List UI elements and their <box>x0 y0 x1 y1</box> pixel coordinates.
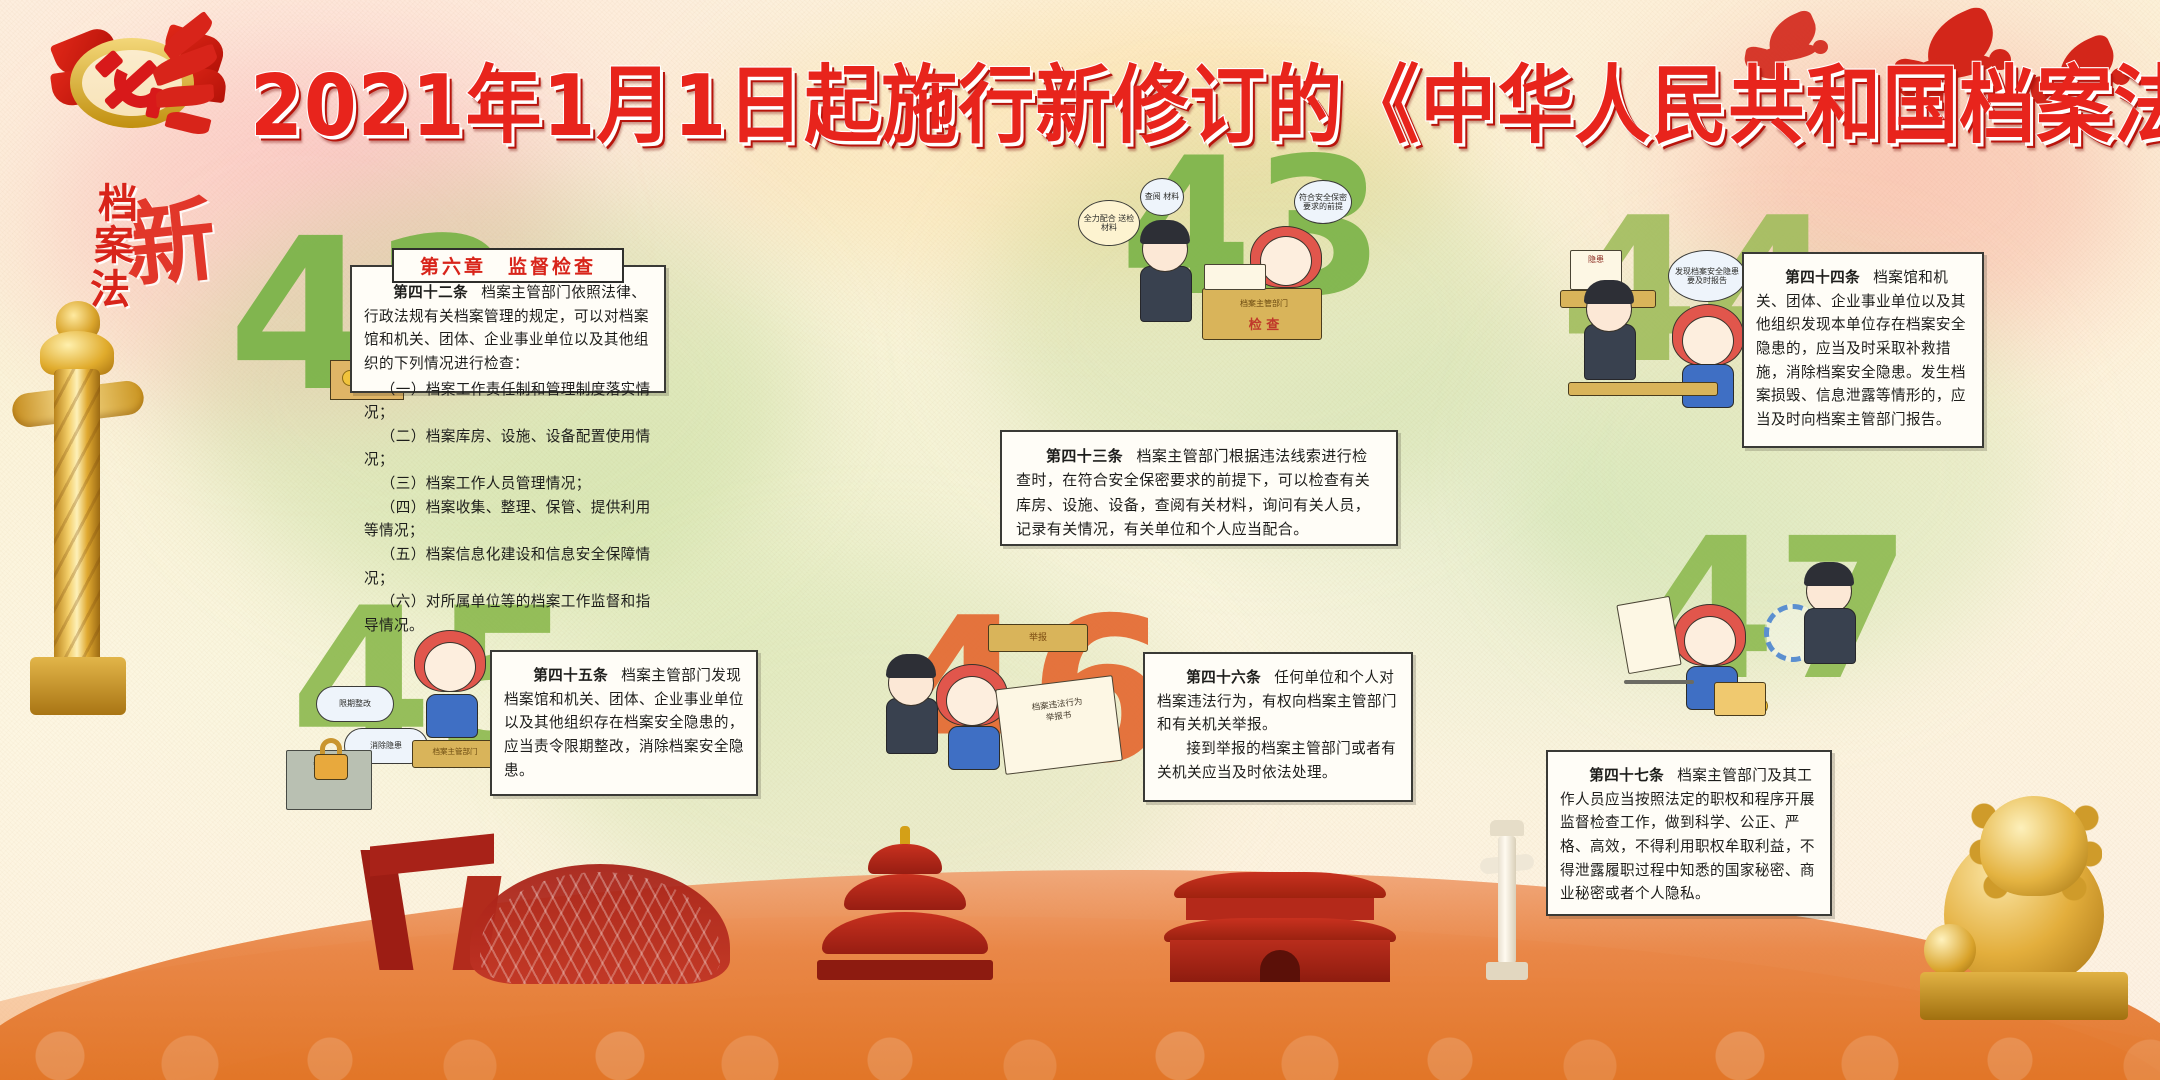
speech-bubble-rectify-deadline: 限期整改 <box>316 686 394 722</box>
illustration-whistleblower: 举报 档案违法行为 举报书 <box>880 620 1140 810</box>
archives-new-law-seal: 新 档 案 法 <box>68 182 188 322</box>
article-46-panel: 第四十六条任何单位和个人对档案违法行为，有权向档案主管部门和有关机关举报。 接到… <box>1143 652 1413 802</box>
poster-canvas: 42 43 44 45 46 47 <box>0 0 2160 1080</box>
article-42-body: 第四十二条档案主管部门依照法律、行政法规有关档案管理的规定，可以对档案馆和机关、… <box>364 281 652 638</box>
report-office-sign <box>988 624 1088 652</box>
article-42-item-3: （三）档案工作人员管理情况； <box>364 472 652 496</box>
seal-char-dang: 档 <box>98 184 138 224</box>
illustration-supervision-team <box>1620 560 1880 750</box>
desk-sign-inspect: 检 查 <box>1208 314 1320 333</box>
article-42-item-2: （二）档案库房、设施、设备配置使用情况； <box>364 425 652 472</box>
ground-wave-mid <box>0 916 2160 1080</box>
poster-title-area: 2021年1月1日起施行新修订的《中华人民共和国档案法》 <box>250 52 1590 144</box>
party-emblem <box>46 22 226 152</box>
article-42-item-list: （一）档案工作责任制和管理制度落实情况； （二）档案库房、设施、设备配置使用情况… <box>364 378 652 638</box>
article-46-paragraph-1: 第四十六条任何单位和个人对档案违法行为，有权向档案主管部门和有关机关举报。 <box>1157 666 1399 737</box>
huabiao-column <box>18 295 138 715</box>
ground-wave-back <box>120 976 2160 1080</box>
hazard-notice-paper <box>1570 250 1622 290</box>
article-47-paragraph: 第四十七条档案主管部门及其工作人员应当按照法定的职权和程序开展监督检查工作，做到… <box>1560 764 1818 906</box>
article-44-body: 第四十四条档案馆和机关、团体、企业事业单位以及其他组织发现本单位存在档案安全隐患… <box>1756 266 1970 431</box>
report-office-label: 举报 <box>990 630 1086 643</box>
speech-bubble-cooperate: 全力配合 送检材料 <box>1078 200 1140 246</box>
speech-bubble-remove-hazard: 消除隐患 <box>344 728 428 764</box>
illustration-hazard-report: 隐患 发现档案安全隐患 要及时报告 <box>1560 232 1760 422</box>
authority-plaque <box>412 740 498 768</box>
archive-cabinet <box>286 750 372 810</box>
temple-of-heaven-silhouette <box>820 840 990 980</box>
chapter-tag: 第六章 监督检查 <box>392 248 624 283</box>
article-42-panel: 第六章 监督检查 第四十二条档案主管部门依照法律、行政法规有关档案管理的规定，可… <box>350 265 666 393</box>
article-43-paragraph: 第四十三条档案主管部门根据违法线索进行检查时，在符合安全保密要求的前提下，可以检… <box>1016 444 1382 541</box>
article-47-panel: 第四十七条档案主管部门及其工作人员应当按照法定的职权和程序开展监督检查工作，做到… <box>1546 750 1832 916</box>
illustration-inspection-desk: 全力配合 送检材料 查阅 材料 符合安全保密 要求的前提 档案主管部门 检 查 <box>1078 178 1348 358</box>
article-44-panel: 第四十四条档案馆和机关、团体、企业事业单位以及其他组织发现本单位存在档案安全隐患… <box>1742 252 1984 448</box>
article-42-item-1: （一）档案工作责任制和管理制度落实情况； <box>364 378 652 425</box>
auspicious-cloud-pattern <box>0 960 2160 1080</box>
article-45-body: 第四十五条档案主管部门发现档案馆和机关、团体、企业事业单位以及其他组织存在档案安… <box>504 664 744 782</box>
authority-plaque-label: 档案主管部门 <box>414 746 496 757</box>
article-42-lead-paragraph: 第四十二条档案主管部门依照法律、行政法规有关档案管理的规定，可以对档案馆和机关、… <box>364 281 652 376</box>
archive-cabinet-label: 安全档案 <box>288 760 370 771</box>
seal-char-an: 案 <box>94 226 134 266</box>
article-44-paragraph: 第四十四条档案馆和机关、团体、企业事业单位以及其他组织发现本单位存在档案安全隐患… <box>1756 266 1970 431</box>
inspection-desk <box>1202 288 1322 340</box>
small-huabiao-silhouette <box>1480 820 1534 980</box>
desk-sign-label: 档案主管部门 <box>1208 298 1320 309</box>
article-44-text: 档案馆和机关、团体、企业事业单位以及其他组织发现本单位存在档案安全隐患的，应当及… <box>1756 269 1966 428</box>
speech-bubble-review-materials: 查阅 材料 <box>1140 178 1184 216</box>
cctv-tower-silhouette <box>370 840 500 970</box>
article-46-body: 第四十六条任何单位和个人对档案违法行为，有权向档案主管部门和有关机关举报。 接到… <box>1157 666 1399 784</box>
article-45-paragraph: 第四十五条档案主管部门发现档案馆和机关、团体、企业事业单位以及其他组织存在档案安… <box>504 664 744 782</box>
ground-wave-front <box>0 870 2160 1080</box>
article-47-text: 档案主管部门及其工作人员应当按照法定的职权和程序开展监督检查工作，做到科学、公正… <box>1560 767 1815 902</box>
article-47-body: 第四十七条档案主管部门及其工作人员应当按照法定的职权和程序开展监督检查工作，做到… <box>1560 764 1818 906</box>
article-42-label: 第四十二条 <box>393 284 468 301</box>
article-46-label: 第四十六条 <box>1186 669 1261 686</box>
article-46-paragraph-2: 接到举报的档案主管部门或者有关机关应当及时依法处理。 <box>1157 737 1399 784</box>
guardian-lion-statue <box>1916 790 2136 1020</box>
article-42-item-4: （四）档案收集、整理、保管、提供利用等情况； <box>364 496 652 543</box>
background-number-47: 47 <box>1640 530 1911 690</box>
article-42-item-5: （五）档案信息化建设和信息安全保障情况； <box>364 543 652 590</box>
speech-bubble-report-hazard: 发现档案安全隐患 要及时报告 <box>1668 250 1746 302</box>
tiananmen-silhouette <box>1160 872 1400 982</box>
background-number-46: 46 <box>890 610 1168 774</box>
birds-nest-silhouette <box>470 864 730 984</box>
poster-title: 2021年1月1日起施行新修订的《中华人民共和国档案法》 <box>250 36 2160 159</box>
article-45-label: 第四十五条 <box>533 667 608 684</box>
article-42-item-6: （六）对所属单位等的档案工作监督和指导情况。 <box>364 590 652 637</box>
hazard-sign-label: 隐患 <box>1572 254 1620 265</box>
bottom-landscape-band <box>0 780 2160 1080</box>
illustration-rectification: 限期整改 消除隐患 档案主管部门 安全档案 <box>286 610 516 810</box>
article-47-label: 第四十七条 <box>1589 767 1664 784</box>
gear-icon <box>1764 604 1822 662</box>
article-44-label: 第四十四条 <box>1785 269 1860 286</box>
article-43-panel: 第四十三条档案主管部门根据违法线索进行检查时，在符合安全保密要求的前提下，可以检… <box>1000 430 1398 546</box>
article-43-body: 第四十三条档案主管部门根据违法线索进行检查时，在符合安全保密要求的前提下，可以检… <box>1016 444 1382 541</box>
background-number-43: 43 <box>1120 150 1384 306</box>
seal-char-fa: 法 <box>90 270 130 310</box>
article-43-label: 第四十三条 <box>1046 447 1123 465</box>
speech-bubble-security-requirement: 符合安全保密 要求的前提 <box>1294 180 1352 224</box>
article-45-panel: 第四十五条档案主管部门发现档案馆和机关、团体、企业事业单位以及其他组织存在档案安… <box>490 650 758 796</box>
hammer-and-sickle-icon <box>92 44 174 116</box>
report-document <box>995 675 1123 775</box>
report-document-text: 档案违法行为 举报书 <box>1007 694 1109 730</box>
